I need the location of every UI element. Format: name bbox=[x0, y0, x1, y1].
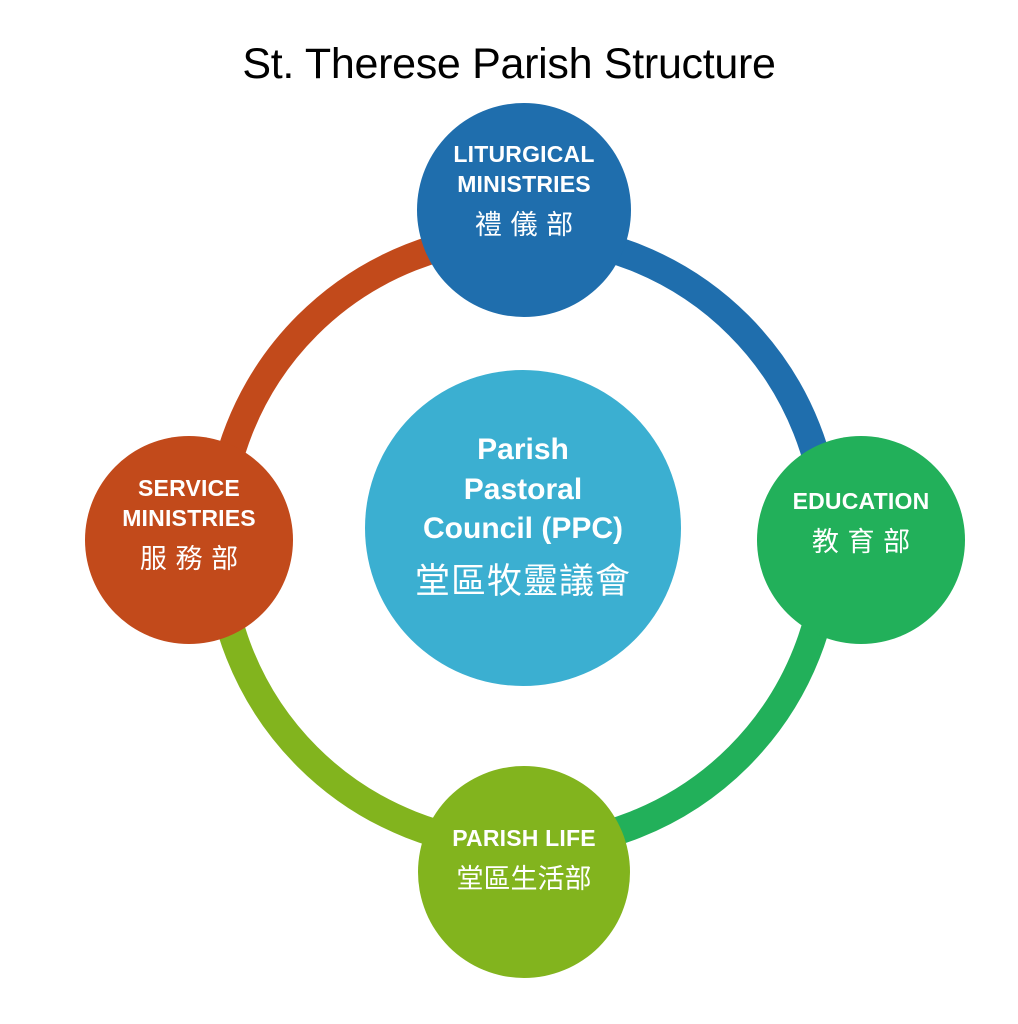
node-circle-education[interactable] bbox=[757, 436, 965, 644]
node-circle-parish-life[interactable] bbox=[418, 766, 630, 978]
diagram-canvas: St. Therese Parish Structure Parish Past… bbox=[0, 0, 1018, 1024]
parish-structure-diagram bbox=[0, 0, 1018, 1024]
node-circle-liturgical-ministries[interactable] bbox=[417, 103, 631, 317]
center-circle-parish-pastoral-council[interactable] bbox=[365, 370, 681, 686]
node-circle-service-ministries[interactable] bbox=[85, 436, 293, 644]
